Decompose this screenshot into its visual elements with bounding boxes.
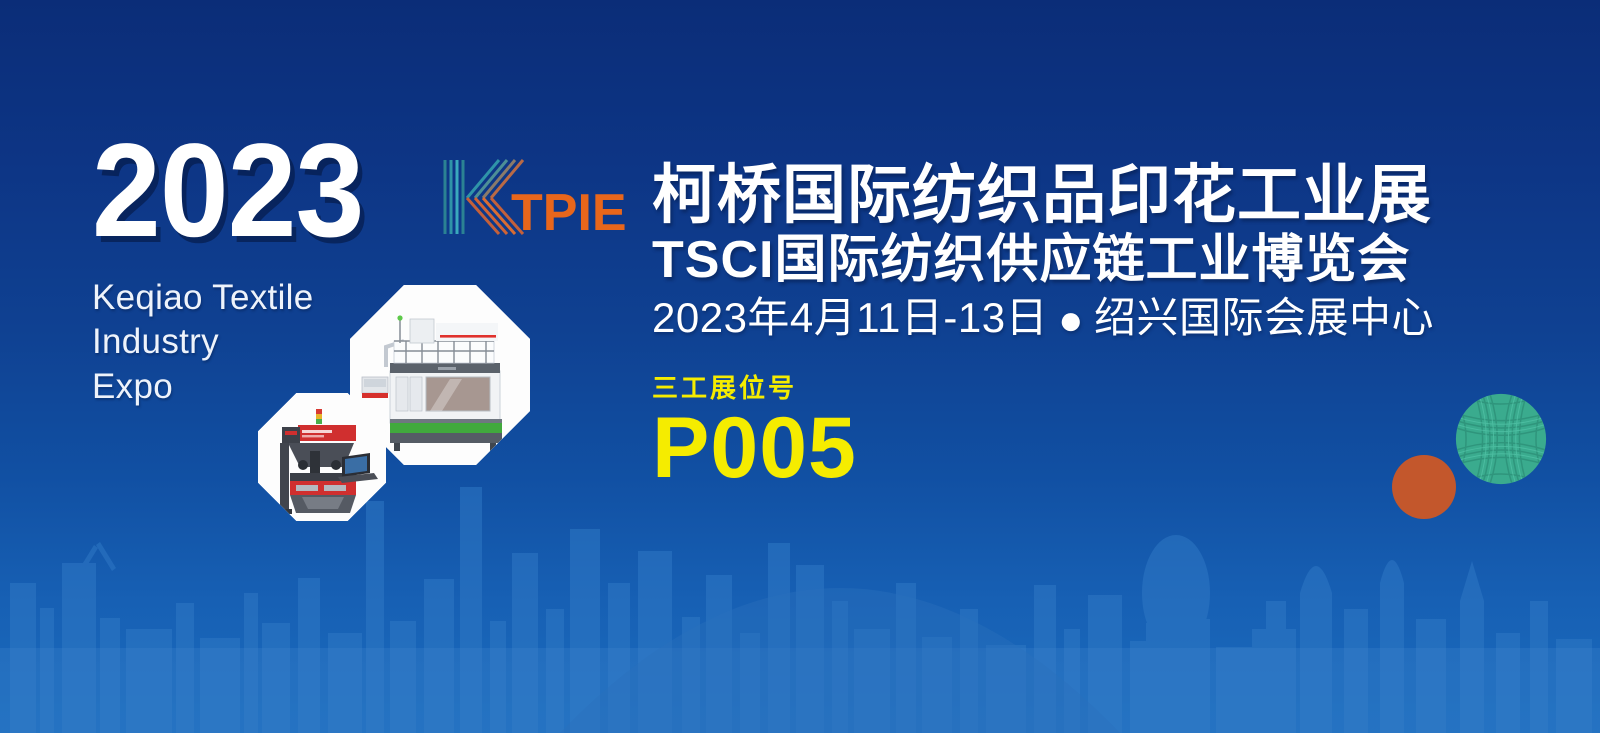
marking-machine-illustration: [258, 393, 386, 521]
ktpie-logo: TPIE: [437, 152, 637, 242]
ktpie-wordmark: TPIE: [511, 184, 627, 242]
booth-label: 三工展位号: [652, 375, 857, 401]
machine-photo-small-octagon: [258, 393, 386, 521]
expo-title-primary: 柯桥国际纺织品印花工业展: [652, 163, 1482, 229]
exhibition-banner: 2023 Keqiao Textile Industry Expo: [0, 0, 1600, 733]
event-date-text: 2023年4月11日-13日: [652, 294, 1048, 341]
expo-title-secondary: TSCI国际纺织供应链工业博览会: [652, 233, 1482, 288]
year-heading: 2023: [92, 128, 483, 256]
yarn-ball-orange-icon: [1392, 455, 1456, 519]
event-title-block: 柯桥国际纺织品印花工业展 TSCI国际纺织供应链工业博览会 2023年4月11日…: [652, 163, 1482, 344]
event-venue-text: 绍兴国际会展中心: [1094, 294, 1434, 341]
booth-number: P005: [652, 405, 857, 493]
event-date-venue: 2023年4月11日-13日●绍兴国际会展中心: [652, 295, 1482, 344]
yarn-ball-teal-icon: [1455, 393, 1547, 485]
booth-number-block: 三工展位号 P005: [652, 375, 857, 493]
separator-bullet-icon: ●: [1058, 297, 1084, 343]
dome-silhouette: [560, 483, 1120, 733]
